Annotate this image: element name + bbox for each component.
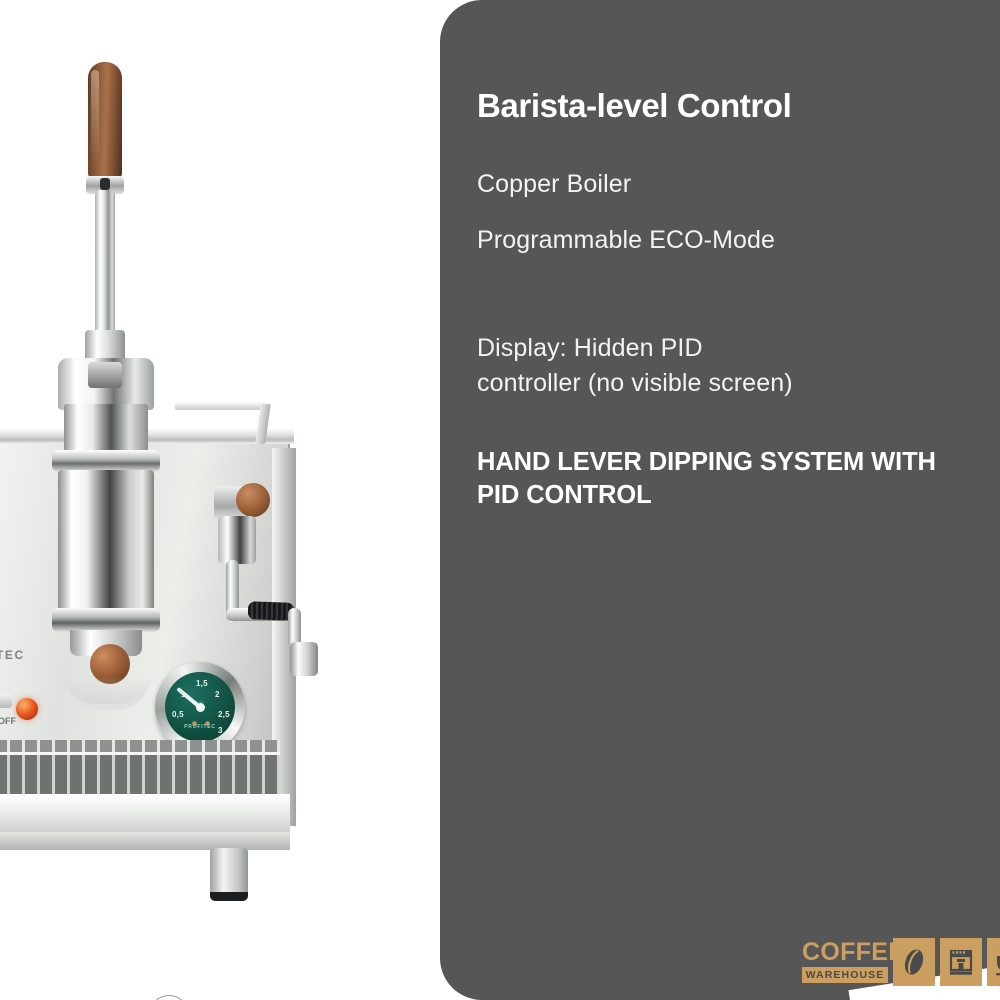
steam-wand-tip: [290, 642, 318, 676]
grouphead-barrel: [58, 470, 154, 620]
pressure-gauge: 0,5 1 1,5 2 2,5 3 bar PROFITEC: [155, 662, 245, 752]
power-switch[interactable]: [0, 694, 12, 708]
coffee-warehouse-logo[interactable]: COFFEE WAREHOUSE: [802, 938, 1000, 986]
grouphead-upper-ring: [52, 450, 160, 472]
logo-brand-top: COFFEE: [802, 941, 888, 965]
drip-tray-grate: [0, 752, 280, 798]
machine-foot: [210, 848, 248, 894]
gauge-tick-0: 0,5: [172, 710, 184, 719]
logo-brand-bottom: WAREHOUSE: [802, 967, 888, 983]
lever-shaft: [95, 190, 115, 340]
spec-item-1: Programmable ECO-Mode: [477, 228, 972, 253]
brand-medallion-icon: [149, 995, 189, 1000]
power-switch-label: OFF: [0, 716, 16, 726]
feature-info-panel: Barista-level Control Copper Boiler Prog…: [440, 0, 1000, 1000]
cup-warmer-rail: [174, 402, 266, 410]
product-photo: 0,5 1 1,5 2 2,5 3 bar PROFITEC TEC OFF: [0, 0, 440, 1000]
wooden-lever-handle: [88, 62, 122, 180]
machine-brand-text: TEC: [0, 648, 25, 662]
wooden-knob-steam-valve: [236, 483, 270, 517]
display-note: Display: Hidden PID controller (no visib…: [477, 331, 807, 402]
logo-wordmark: COFFEE WAREHOUSE: [802, 938, 888, 986]
panel-headline: Barista-level Control: [477, 88, 972, 125]
gauge-hub: [196, 703, 205, 712]
gauge-brand-label: PROFITEC: [165, 724, 235, 730]
coffee-bean-icon: [893, 938, 935, 986]
espresso-machine-icon: [940, 938, 982, 986]
gauge-tick-3: 2: [215, 690, 220, 699]
coffee-cup-icon: [987, 938, 1000, 986]
machine-base: [0, 832, 290, 850]
grouphead-cap: [58, 358, 154, 410]
steam-valve-block: [218, 516, 256, 564]
spec-list: Copper Boiler Programmable ECO-Mode: [477, 172, 972, 253]
gauge-tick-4: 2,5: [218, 710, 230, 719]
grouphead-lower-ring: [52, 608, 160, 632]
pilot-light-indicator: [16, 698, 38, 720]
grouphead-neck: [64, 404, 148, 456]
pressure-gauge-face: 0,5 1 1,5 2 2,5 3 bar PROFITEC: [165, 672, 235, 742]
spec-item-0: Copper Boiler: [477, 172, 972, 197]
emphasis-statement: HAND LEVER DIPPING SYSTEM WITH PID CONTR…: [477, 446, 972, 511]
gauge-tick-2: 1,5: [196, 679, 208, 688]
